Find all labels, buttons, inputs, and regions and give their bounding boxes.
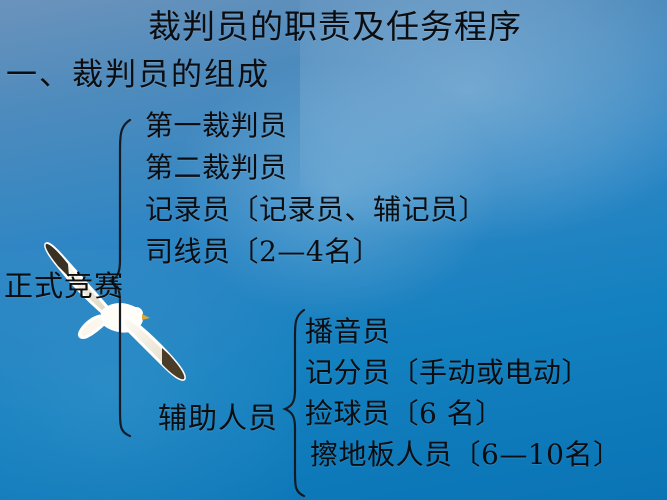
group-label-formal-competition: 正式竞赛 [4,272,124,301]
section-heading: 一、裁判员的组成 [6,60,270,91]
list-item: 擦地板人员〔6—10名〕 [305,441,621,469]
group-label-assistants: 辅助人员 [158,404,278,433]
assistants-list: 播音员 记分员〔手动或电动〕 捡球员〔6 名〕 擦地板人员〔6—10名〕 [305,318,621,482]
list-item: 第二裁判员 [145,154,487,182]
curly-brace-assistants [282,308,308,498]
list-item: 捡球员〔6 名〕 [305,400,621,428]
list-item: 第一裁判员 [145,112,487,140]
presentation-slide: 裁判员的职责及任务程序 一、裁判员的组成 正式竞赛 第一裁判员 第二裁判员 记录… [0,0,667,500]
list-item: 司线员〔2—4名〕 [145,238,487,266]
list-item: 播音员 [305,318,621,346]
slide-title: 裁判员的职责及任务程序 [148,10,522,43]
list-item: 记录员〔记录员、辅记员〕 [145,196,487,224]
list-item: 记分员〔手动或电动〕 [305,359,621,387]
officials-list: 第一裁判员 第二裁判员 记录员〔记录员、辅记员〕 司线员〔2—4名〕 [145,112,487,280]
